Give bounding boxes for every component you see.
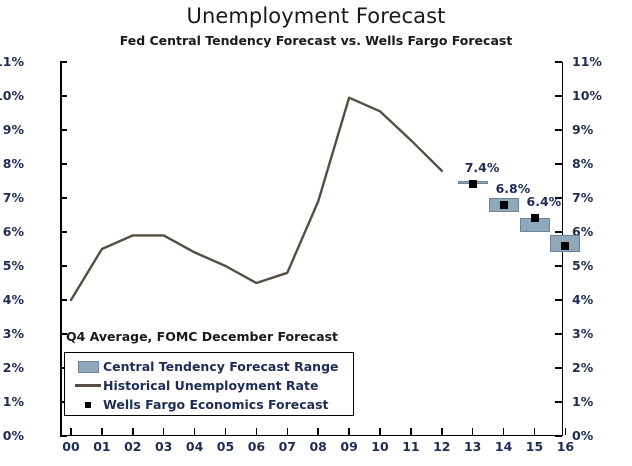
y-tick-label-left: 1% <box>3 396 24 409</box>
y-tick-right <box>555 299 562 301</box>
x-tick <box>565 428 567 435</box>
y-tick-right <box>555 95 562 97</box>
wells-fargo-forecast-value-label: 6.8% <box>496 183 531 196</box>
y-tick-label-left: 8% <box>3 158 24 171</box>
y-tick-right <box>555 231 562 233</box>
x-tick <box>317 428 319 435</box>
y-tick-label-left: 10% <box>0 90 24 103</box>
y-tick-label-left: 7% <box>3 192 24 205</box>
line-swatch-icon <box>73 384 103 387</box>
x-tick-label: 02 <box>116 441 150 454</box>
y-tick-label-left: 11% <box>0 56 24 69</box>
range-swatch-icon <box>73 361 103 373</box>
y-tick-left <box>60 231 67 233</box>
x-tick <box>256 428 258 435</box>
x-tick-label: 12 <box>425 441 459 454</box>
y-tick-right <box>555 401 562 403</box>
y-tick-label-right: 4% <box>572 294 593 307</box>
legend-label: Historical Unemployment Rate <box>103 378 318 393</box>
unemployment-forecast-chart: Unemployment Forecast Fed Central Tenden… <box>0 0 632 466</box>
y-tick-label-left: 6% <box>3 226 24 239</box>
legend-label: Wells Fargo Economics Forecast <box>103 397 329 412</box>
y-tick-left <box>60 435 67 437</box>
x-tick-label: 04 <box>178 441 212 454</box>
x-tick <box>101 428 103 435</box>
wells-fargo-forecast-marker <box>531 214 539 222</box>
x-tick <box>472 428 474 435</box>
x-tick <box>287 428 289 435</box>
y-tick-label-right: 8% <box>572 158 593 171</box>
x-tick-label: 10 <box>363 441 397 454</box>
y-tick-left <box>60 129 67 131</box>
x-tick-label: 15 <box>518 441 552 454</box>
x-tick-label: 07 <box>270 441 304 454</box>
x-tick-label: 00 <box>54 441 88 454</box>
y-tick-label-left: 0% <box>3 430 24 443</box>
y-tick-right <box>555 129 562 131</box>
x-tick-label: 01 <box>85 441 119 454</box>
x-tick-label: 08 <box>301 441 335 454</box>
x-tick <box>503 428 505 435</box>
wells-fargo-forecast-value-label: 7.4% <box>465 162 500 175</box>
legend: Central Tendency Forecast Range Historic… <box>64 352 354 416</box>
chart-subtitle: Fed Central Tendency Forecast vs. Wells … <box>0 33 632 48</box>
y-tick-left <box>60 197 67 199</box>
y-tick-label-right: 11% <box>572 56 602 69</box>
x-tick-label: 13 <box>456 441 490 454</box>
x-tick <box>441 428 443 435</box>
y-tick-label-right: 3% <box>572 328 593 341</box>
historical-unemployment-line <box>71 98 442 300</box>
x-tick-label: 14 <box>487 441 521 454</box>
y-tick-left <box>60 95 67 97</box>
wells-fargo-forecast-marker <box>500 201 508 209</box>
x-tick <box>379 428 381 435</box>
y-tick-right <box>555 333 562 335</box>
chart-note: Q4 Average, FOMC December Forecast <box>66 329 338 344</box>
y-tick-label-left: 2% <box>3 362 24 375</box>
y-tick-right <box>555 163 562 165</box>
x-tick-label: 05 <box>209 441 243 454</box>
y-tick-label-right: 1% <box>572 396 593 409</box>
x-tick <box>132 428 134 435</box>
y-tick-right <box>555 265 562 267</box>
y-tick-left <box>60 265 67 267</box>
y-tick-label-left: 9% <box>3 124 24 137</box>
wells-fargo-forecast-marker <box>469 180 477 188</box>
x-tick <box>534 428 536 435</box>
legend-item-central-tendency: Central Tendency Forecast Range <box>65 357 353 376</box>
y-tick-label-right: 2% <box>572 362 593 375</box>
x-tick <box>348 428 350 435</box>
y-tick-right <box>555 367 562 369</box>
y-tick-label-right: 7% <box>572 192 593 205</box>
x-tick-label: 11 <box>394 441 428 454</box>
y-tick-left <box>60 61 67 63</box>
square-marker-icon <box>73 402 103 408</box>
y-tick-label-right: 10% <box>572 90 602 103</box>
x-tick <box>163 428 165 435</box>
y-tick-label-left: 4% <box>3 294 24 307</box>
y-tick-label-right: 9% <box>572 124 593 137</box>
x-tick-label: 16 <box>548 441 582 454</box>
x-tick-label: 09 <box>332 441 366 454</box>
y-tick-label-right: 5% <box>572 260 593 273</box>
y-tick-right <box>555 435 562 437</box>
legend-label: Central Tendency Forecast Range <box>103 359 339 374</box>
legend-item-wells-fargo: Wells Fargo Economics Forecast <box>65 395 353 414</box>
x-tick-label: 03 <box>147 441 181 454</box>
y-tick-label-left: 3% <box>3 328 24 341</box>
x-tick <box>410 428 412 435</box>
x-tick <box>194 428 196 435</box>
x-tick-label: 06 <box>239 441 273 454</box>
chart-title: Unemployment Forecast <box>0 4 632 28</box>
y-tick-left <box>60 299 67 301</box>
y-tick-left <box>60 163 67 165</box>
y-tick-label-left: 5% <box>3 260 24 273</box>
wells-fargo-forecast-value-label: 6.4% <box>527 196 562 209</box>
x-tick <box>70 428 72 435</box>
legend-item-historical: Historical Unemployment Rate <box>65 376 353 395</box>
y-tick-right <box>555 61 562 63</box>
wells-fargo-forecast-marker <box>561 242 569 250</box>
x-tick <box>225 428 227 435</box>
